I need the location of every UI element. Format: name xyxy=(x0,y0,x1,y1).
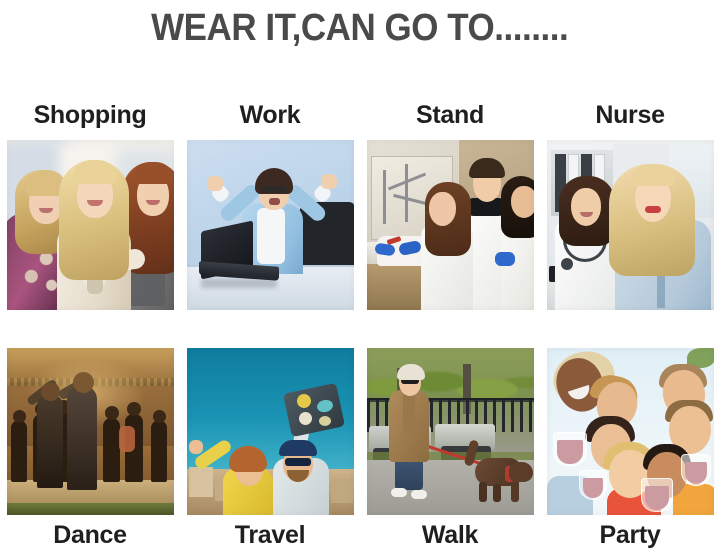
scene-couple-with-suitcase-blue-sky xyxy=(187,348,354,515)
top-photo-row xyxy=(0,136,720,314)
scene-woman-cheering-at-laptop xyxy=(187,140,354,310)
scene-lab-technicians-white-coats xyxy=(367,140,534,310)
tile-label-work: Work xyxy=(180,103,360,128)
tile-stand xyxy=(360,136,540,314)
tile-label-stand: Stand xyxy=(360,103,540,128)
photo-nurse xyxy=(547,140,714,310)
page-title: WEAR IT,CAN GO TO........ xyxy=(151,7,568,50)
top-label-row: Shopping Work Stand Nurse xyxy=(0,98,720,132)
tile-label-party: Party xyxy=(540,523,720,548)
photo-shopping xyxy=(7,140,174,310)
tile-label-nurse: Nurse xyxy=(540,103,720,128)
bottom-label-row: Dance Travel Walk Party xyxy=(0,518,720,552)
tile-dance xyxy=(0,344,180,518)
promo-poster: WEAR IT,CAN GO TO........ Shopping Work … xyxy=(0,0,720,558)
scene-woman-walking-dog-in-park xyxy=(367,348,534,515)
photo-work xyxy=(187,140,354,310)
tile-label-travel: Travel xyxy=(180,523,360,548)
bottom-photo-row xyxy=(0,344,720,518)
tile-label-shopping: Shopping xyxy=(0,103,180,128)
tile-walk xyxy=(360,344,540,518)
photo-party xyxy=(547,348,714,515)
poster-title-bar: WEAR IT,CAN GO TO........ xyxy=(0,4,720,52)
tile-party xyxy=(540,344,720,518)
tile-nurse xyxy=(540,136,720,314)
tile-travel xyxy=(180,344,360,518)
photo-stand xyxy=(367,140,534,310)
tile-label-walk: Walk xyxy=(360,523,540,548)
scene-outdoor-crowd-dancing-sunset xyxy=(7,348,174,515)
tile-shopping xyxy=(0,136,180,314)
tile-label-dance: Dance xyxy=(0,523,180,548)
scene-friends-toasting-wine-glasses xyxy=(547,348,714,515)
photo-travel xyxy=(187,348,354,515)
scene-two-medical-staff-thumbs-up xyxy=(547,140,714,310)
tile-work xyxy=(180,136,360,314)
photo-walk xyxy=(367,348,534,515)
photo-dance xyxy=(7,348,174,515)
scene-three-women-shopping-mall xyxy=(7,140,174,310)
